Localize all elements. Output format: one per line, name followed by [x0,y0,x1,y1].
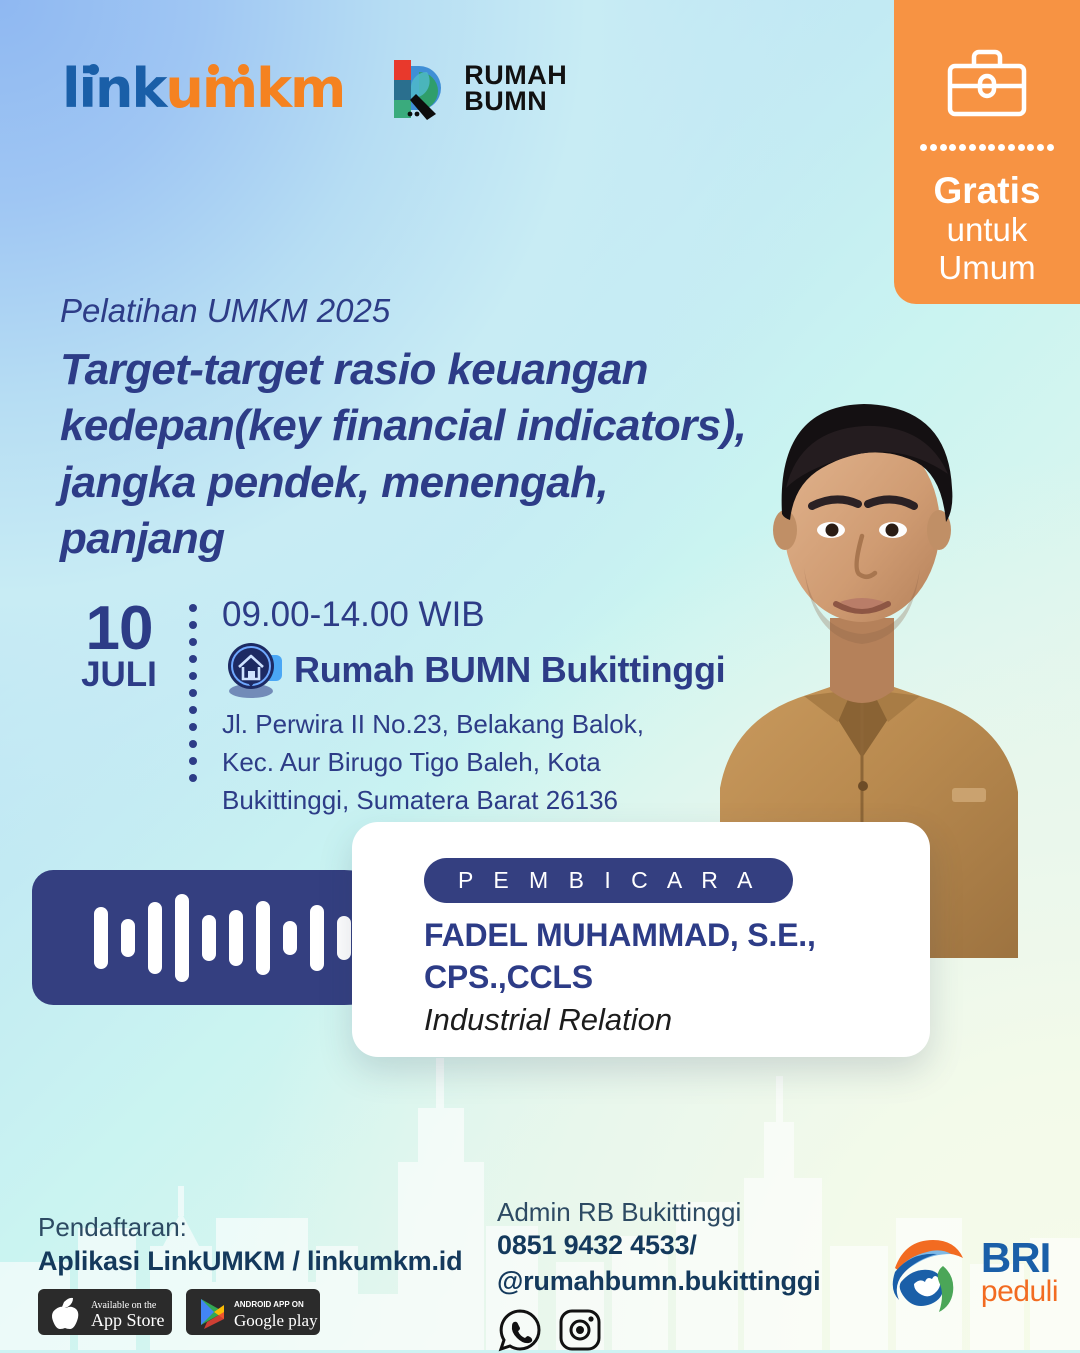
speaker-name-line-1: FADEL MUHAMMAD, S.E., [424,915,896,957]
badge-dotted-divider [920,144,1054,152]
briefcase-icon [944,46,1030,120]
free-badge: Gratis untuk Umum [894,0,1080,304]
whatsapp-icon[interactable] [497,1307,543,1353]
badge-sub-label-1: untuk [947,211,1028,249]
headline-line-3: jangka pendek, menengah, [60,455,850,511]
audio-waveform-icon [94,870,378,1005]
address-line-2: Kec. Aur Birugo Tigo Baleh, Kota [222,743,725,781]
linkumkm-dot-right [238,64,249,75]
instagram-icon[interactable] [557,1307,603,1353]
poster-background: linkumkm RUMAH BUMN [0,0,1080,1350]
badge-main-label: Gratis [934,170,1041,211]
header-logos: linkumkm RUMAH BUMN [62,56,567,122]
app-store-big-text: App Store [91,1310,165,1330]
linkumkm-logo-umkm: umkm [165,57,344,120]
event-details: 10 JULI 09.00-14.00 WIB Rumah BUMN Bukit [60,596,725,820]
linkumkm-logo-link: link [62,57,165,120]
headline-line-2: kedepan(key financial indicators), [60,398,850,454]
speaker-name-line-2: CPS.,CCLS [424,957,896,999]
address-line-1: Jl. Perwira II No.23, Belakang Balok, [222,705,725,743]
event-day: 10 [60,600,178,657]
registration-label: Pendaftaran: [38,1212,462,1243]
event-month: JULI [60,657,178,692]
admin-phone[interactable]: 0851 9432 4533/ [497,1228,820,1264]
registration-value: Aplikasi LinkUMKM / linkumkm.id [38,1246,462,1277]
title-block: Pelatihan UMKM 2025 Target-target rasio … [60,292,850,567]
event-headline: Target-target rasio keuangan kedepan(key… [60,342,850,567]
venue-details: 09.00-14.00 WIB Rumah BUMN Bukittinggi J… [208,596,725,820]
admin-label: Admin RB Bukittinggi [497,1197,820,1228]
address-line-3: Bukittinggi, Sumatera Barat 26136 [222,781,725,819]
google-play-big-text: Google play [234,1311,318,1330]
app-store-badge[interactable]: Available on the App Store [38,1289,172,1335]
event-date: 10 JULI [60,596,178,820]
headline-line-4: panjang [60,511,850,567]
event-kicker: Pelatihan UMKM 2025 [60,292,850,330]
rumah-bumn-logo: RUMAH BUMN [390,56,567,122]
speaker-card: P E M B I C A R A FADEL MUHAMMAD, S.E., … [352,822,930,1057]
rumah-bumn-line2: BUMN [464,89,567,115]
google-play-badge[interactable]: ANDROID APP ON Google play [186,1289,320,1335]
bri-name: BRI [981,1239,1058,1278]
event-time: 09.00-14.00 WIB [222,596,725,635]
bri-tagline: peduli [981,1277,1058,1307]
google-play-small-text: ANDROID APP ON [234,1300,304,1309]
contact-block: Admin RB Bukittinggi 0851 9432 4533/ @ru… [497,1197,820,1353]
linkumkm-logo: linkumkm [62,62,344,116]
speaker-name: FADEL MUHAMMAD, S.E., CPS.,CCLS [424,915,896,998]
linkumkm-dot-left [208,64,219,75]
rumah-bumn-wordmark: RUMAH BUMN [464,63,567,114]
vertical-dotted-divider [178,596,208,820]
bri-wordmark: BRI peduli [981,1239,1058,1308]
rumah-bumn-mark-icon [390,56,452,122]
location-pin-icon [222,639,284,701]
venue-address: Jl. Perwira II No.23, Belakang Balok, Ke… [222,705,725,820]
linkumkm-dot-i [88,64,99,75]
speaker-label-badge: P E M B I C A R A [424,858,793,903]
speaker-role: Industrial Relation [424,1002,896,1038]
venue-name: Rumah BUMN Bukittinggi [294,649,725,691]
registration-block: Pendaftaran: Aplikasi LinkUMKM / linkumk… [38,1212,462,1335]
headline-line-1: Target-target rasio keuangan [60,342,850,398]
bri-peduli-logo: BRI peduli [881,1228,1058,1318]
bri-peduli-mark-icon [881,1228,971,1318]
badge-sub-label-2: Umum [938,249,1035,287]
admin-instagram-handle[interactable]: @rumahbumn.bukittinggi [497,1264,820,1300]
